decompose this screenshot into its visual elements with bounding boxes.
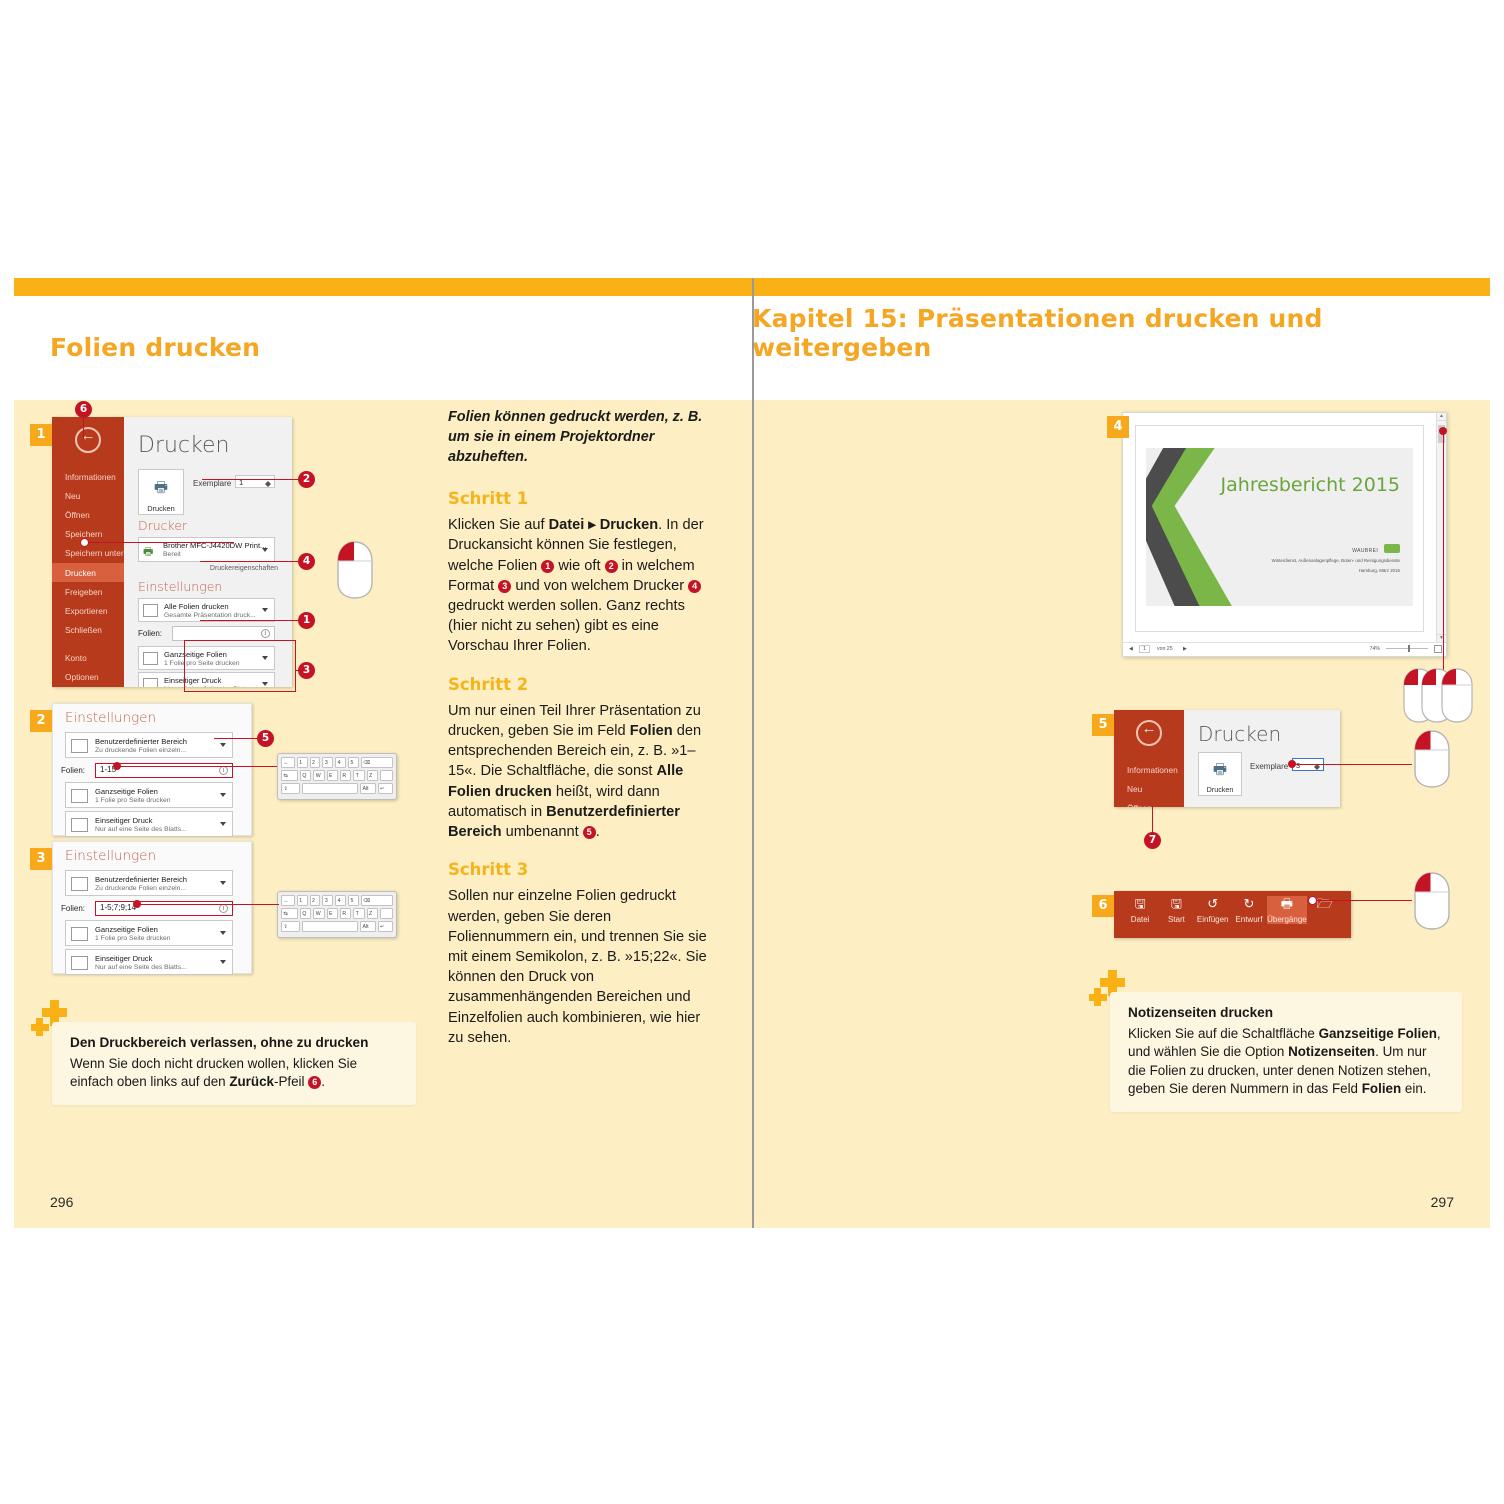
tab-start: Start (1158, 915, 1194, 924)
tip-body: Wenn Sie doch nicht drucken wollen, klic… (70, 1056, 357, 1090)
sided-desc-3: Nur auf eine Seite des Blatts... (95, 964, 187, 971)
keyboard-graphic-2: ←1 23 45 ⌫ ↹Q WE RT Z ⇪ Alt↵ (277, 891, 397, 938)
left-text-column: Folien können gedruckt werden, z. B. um … (448, 407, 710, 1052)
printer-icon: 🖶 (139, 477, 183, 502)
sidebar-item-neu[interactable]: Neu (52, 486, 124, 505)
tab-entwurf: Entwurf (1231, 915, 1267, 924)
print-range-combo[interactable]: Alle Folien drucken Gesamte Präsentation… (138, 598, 275, 622)
backstage-main-2: Drucken 🖶 Drucken Exemplare 3 (1184, 710, 1340, 807)
copies-label-2: Exemplare (1250, 762, 1288, 771)
callout-number-inline: 3 (498, 580, 511, 593)
settings-heading-2: Einstellungen (65, 710, 156, 726)
layout-combo-2[interactable]: Ganzseitige Folien 1 Folie pro Seite dru… (65, 782, 233, 808)
sidebar-item-informationen[interactable]: Informationen (1114, 760, 1184, 779)
preview-scrollbar[interactable]: ▲ ▼ (1436, 413, 1446, 642)
tab-datei: Datei (1122, 915, 1158, 924)
sided-combo-3[interactable]: Einseitiger Druck Nur auf eine Seite des… (65, 949, 233, 975)
redo-icon: ↻ (1231, 896, 1267, 912)
step-badge-3: 3 (30, 848, 52, 870)
folien-row: Folien: i (138, 626, 275, 641)
leader-1 (200, 620, 300, 621)
undo-icon: ↺ (1195, 896, 1231, 912)
left-page-header: Folien drucken (14, 296, 752, 400)
sidebar-item-oeffnen[interactable]: Öffnen (52, 505, 124, 524)
right-page: Kapitel 15: Präsentationen drucken und w… (752, 278, 1490, 1228)
step-badge-5: 5 (1092, 714, 1114, 736)
slide-title: Jahresbericht 2015 (1221, 474, 1400, 496)
keyboard-row: ↹Q WE RT Z (281, 770, 393, 781)
layout-title-3: Ganzseitige Folien (95, 925, 158, 934)
print-button[interactable]: 🖶 Drucken (138, 469, 184, 515)
zoom-slider[interactable] (1386, 648, 1428, 649)
tip-box-left: Den Druckbereich verlassen, ohne zu druc… (52, 1022, 416, 1105)
preview-page-total: von 25 (1157, 646, 1173, 652)
info-icon: i (261, 629, 270, 638)
screenshot-copies-backstage: Informationen Neu Öffnen Speichern Druck… (1114, 710, 1340, 807)
toolbar-item-start[interactable]: 🖫 Start (1158, 896, 1194, 924)
chevron-down-icon (220, 793, 226, 797)
sided-title-3: Einseitiger Druck (95, 954, 152, 963)
emphasis-text: Datei ▸ Drucken (549, 517, 659, 533)
leader-quickprint (1312, 900, 1412, 901)
folien-label-3: Folien: (61, 904, 95, 913)
spread-gutter (752, 278, 754, 1228)
emphasis-text: Benutzerdefinierter Bereich (448, 804, 680, 840)
chapter-title: Kapitel 15: Präsentationen drucken und w… (752, 304, 1454, 362)
scroll-down-arrow-icon[interactable]: ▼ (1437, 634, 1446, 642)
step-text-1: Klicken Sie auf Datei ▸ Drucken. In der … (448, 515, 710, 656)
leader-dot-2 (113, 762, 121, 770)
page-number-left: 296 (50, 1194, 73, 1210)
mouse-cursor-graphic-1 (330, 539, 380, 601)
callout-1: 1 (298, 612, 315, 629)
backstage-heading: Drucken (138, 433, 229, 458)
save-as-icon: 🖫 (1158, 896, 1194, 912)
callout-number-inline: 6 (308, 1076, 321, 1089)
page-number-right: 297 (1431, 1194, 1454, 1210)
screenshot-slide-preview: Jahresbericht 2015 WAUBREI Winterdienst,… (1122, 412, 1447, 657)
callout-3: 3 (298, 662, 315, 679)
preview-page-input[interactable]: 1 (1139, 645, 1150, 653)
layout-icon (143, 652, 158, 665)
sidebar-item-konto[interactable]: Konto (52, 649, 124, 668)
leader-4 (200, 561, 300, 562)
sidebar-item-exportieren[interactable]: Exportieren (52, 601, 124, 620)
print-button-2[interactable]: 🖶 Drucken (1198, 752, 1242, 796)
print-button-label: Drucken (139, 504, 183, 513)
folien-input[interactable]: i (172, 626, 275, 641)
leader-endpoint-dot (80, 538, 89, 547)
chevron-down-icon (220, 743, 226, 747)
tip-title: Den Druckbereich verlassen, ohne zu druc… (70, 1034, 400, 1053)
prev-page-arrow-icon[interactable]: ◀ (1129, 646, 1133, 652)
back-arrow-icon[interactable] (1136, 720, 1162, 746)
chevron-down-icon (220, 931, 226, 935)
step-heading-2: Schritt 2 (448, 675, 710, 695)
sidebar-item-freigeben[interactable]: Freigeben (52, 582, 124, 601)
slide-company: WAUBREI (1352, 548, 1378, 554)
folien-label: Folien: (138, 629, 172, 638)
layout-title-2: Ganzseitige Folien (95, 787, 158, 796)
chevron-down-icon (262, 608, 268, 612)
keyboard-graphic-1: ←1 23 45 ⌫ ↹Q WE RT Z ⇪ Alt↵ (277, 753, 397, 800)
leader-printer (84, 542, 234, 543)
print-range-title: Alle Folien drucken (164, 602, 229, 611)
leader-copies (1292, 764, 1412, 765)
layout-desc-3: 1 Folie pro Seite drucken (95, 935, 171, 942)
print-range-combo-3[interactable]: Benutzerdefinierter Bereich Zu druckende… (65, 870, 233, 896)
chevron-down-icon (220, 822, 226, 826)
slide-place-date: Hamburg, März 2016 (1210, 567, 1400, 574)
callout-4: 4 (298, 553, 315, 570)
right-page-header: Kapitel 15: Präsentationen drucken und w… (752, 296, 1490, 400)
step-badge-6: 6 (1092, 895, 1114, 917)
step-badge-2: 2 (30, 710, 52, 732)
callout-7: 7 (1144, 832, 1161, 849)
printer-icon: 🖶 (1199, 759, 1241, 784)
sidebar-item-drucken[interactable]: Drucken (52, 563, 124, 582)
quick-print-icon: 🖶 (1267, 896, 1307, 912)
folien-value-3: 1-5;7;9;14 (100, 903, 136, 912)
tab-einfuegen: Einfügen (1195, 915, 1231, 924)
preview-zoom-value: 74% (1370, 646, 1380, 652)
print-range-desc-2: Zu druckende Folien einzeln... (95, 747, 186, 754)
leader-dot-3 (133, 900, 141, 908)
leader-dot-quickprint (1308, 896, 1317, 905)
print-range-title-2: Benutzerdefinierter Bereich (95, 737, 187, 746)
range-icon (71, 877, 88, 891)
leader-6 (83, 417, 84, 439)
sidebar-item-schliessen[interactable]: Schließen (52, 621, 124, 640)
mouse-cursor-drag-graphic (1400, 665, 1492, 731)
printer-section-title: Drucker (138, 518, 187, 533)
step-text-2: Um nur einen Teil Ihrer Präsentation zu … (448, 701, 710, 842)
right-page-topbar (752, 278, 1490, 296)
tip-title-right: Notizenseiten drucken (1128, 1004, 1446, 1023)
sidebar-item-informationen[interactable]: Informationen (52, 467, 124, 486)
step-heading-1: Schritt 1 (448, 489, 710, 509)
callout-2: 2 (298, 471, 315, 488)
left-page-body: 1 Informationen Neu Öffnen Speichern Spe… (14, 400, 752, 1228)
left-page: Folien drucken 1 Informationen Neu Öffne… (14, 278, 752, 1228)
emphasis-text: Notizenseiten (1288, 1044, 1375, 1059)
chevron-down-icon (220, 881, 226, 885)
sidebar-item-optionen[interactable]: Optionen (52, 668, 124, 687)
toolbar-item-entwurf[interactable]: ↻ Entwurf (1231, 896, 1267, 924)
toolbar-item-quick-print[interactable]: 🖶 Übergänge (1267, 896, 1307, 924)
copies-input[interactable]: 1 (235, 475, 275, 488)
mouse-cursor-graphic-3 (1407, 870, 1459, 932)
leader-kbd-3 (137, 904, 279, 905)
callout-number-inline: 5 (583, 826, 596, 839)
right-page-body: Schritt 4 Rechts zeigt PowerPoint Ihnen … (752, 400, 1490, 1228)
slide-canvas: Jahresbericht 2015 WAUBREI Winterdienst,… (1146, 448, 1413, 606)
chevron-down-icon (262, 548, 268, 552)
step-badge-4: 4 (1107, 416, 1129, 438)
emphasis-text: Ganzseitige Folien (1319, 1026, 1437, 1041)
slide-logo-icon (1384, 544, 1400, 553)
fit-to-window-icon[interactable] (1434, 645, 1442, 653)
zoom-slider-handle[interactable] (1408, 645, 1410, 652)
keyboard-row: ⇪ Alt↵ (281, 921, 393, 932)
copies-value-2: 3 (1296, 761, 1300, 770)
tip-body-right: Klicken Sie auf die Schaltfläche Ganzsei… (1128, 1026, 1441, 1097)
leader-kbd-2 (117, 766, 277, 767)
save-icon: 🖫 (1122, 896, 1158, 912)
print-range-desc: Gesamte Präsentation druck... (164, 612, 256, 619)
tab-uebergaenge: Übergänge (1267, 915, 1307, 924)
sided-icon (71, 818, 88, 832)
folien-label-2: Folien: (61, 766, 95, 775)
keyboard-row: ⇪ Alt↵ (281, 783, 393, 794)
printer-status-icon: 🖶 (143, 543, 157, 556)
sidebar-item-oeffnen[interactable]: Öffnen (1114, 798, 1184, 807)
sided-combo-2[interactable]: Einseitiger Druck Nur auf eine Seite des… (65, 811, 233, 837)
range-icon (143, 604, 158, 617)
chevron-down-icon (220, 960, 226, 964)
layout-icon (71, 789, 88, 803)
step-badge-1: 1 (30, 424, 52, 446)
preview-slide: Jahresbericht 2015 WAUBREI Winterdienst,… (1135, 425, 1424, 632)
sidebar-item-speichern-unter[interactable]: Speichern unter (52, 544, 124, 563)
keyboard-row: ←1 23 45 ⌫ (281, 895, 393, 906)
emphasis-text: Folien (1362, 1081, 1401, 1096)
scroll-up-arrow-icon[interactable]: ▲ (1437, 413, 1446, 421)
sided-icon (71, 956, 88, 970)
backstage-sidebar: Informationen Neu Öffnen Speichern Speic… (52, 417, 124, 687)
backstage-sidebar-2: Informationen Neu Öffnen Speichern (1114, 710, 1184, 807)
settings-section-title: Einstellungen (138, 579, 222, 594)
printer-status: Bereit (163, 551, 181, 558)
range-icon (71, 739, 88, 753)
left-page-topbar (14, 278, 752, 296)
printer-properties-link[interactable]: Druckereigenschaften (210, 565, 278, 572)
step-text-3: Sollen nur einzelne Folien gedruckt werd… (448, 886, 710, 1048)
keyboard-row: ←1 23 45 ⌫ (281, 757, 393, 768)
back-arrow-icon[interactable] (75, 427, 101, 453)
leader-5 (214, 738, 259, 739)
slide-services: Winterdienst, Außenanlagenpflege, Boten-… (1210, 557, 1400, 564)
print-range-desc-3: Zu druckende Folien einzeln... (95, 885, 186, 892)
toolbar-item-einfuegen[interactable]: ↺ Einfügen (1195, 896, 1231, 924)
sided-desc-2: Nur auf eine Seite des Blatts... (95, 826, 187, 833)
step-heading-3: Schritt 3 (448, 860, 710, 880)
emphasis-text: Zurück (229, 1074, 274, 1089)
backstage-heading-2: Drucken (1198, 722, 1281, 746)
page-title: Folien drucken (50, 333, 260, 362)
sidebar-item-neu[interactable]: Neu (1114, 779, 1184, 798)
leader-dot-copies (1288, 760, 1296, 768)
leader-2 (202, 479, 300, 480)
highlight-rect-layout-group (184, 640, 296, 692)
screenshot-settings-range: Einstellungen Benutzerdefinierter Bereic… (52, 703, 252, 836)
mouse-cursor-graphic-2 (1407, 728, 1459, 790)
sidebar-divider (52, 640, 124, 649)
layout-icon (71, 927, 88, 941)
sided-icon (143, 678, 158, 687)
slide-chevron-graphic (1146, 448, 1413, 606)
callout-number-inline: 4 (688, 580, 701, 593)
leader-scroll (1443, 430, 1444, 690)
printer-combo[interactable]: 🖶 Brother MFC-J4420DW Print... Bereit (138, 537, 275, 562)
print-range-combo-2[interactable]: Benutzerdefinierter Bereich Zu druckende… (65, 732, 233, 758)
callout-6: 6 (75, 401, 92, 418)
emphasis-text: Folien (630, 723, 673, 739)
layout-combo-3[interactable]: Ganzseitige Folien 1 Folie pro Seite dru… (65, 920, 233, 946)
intro-paragraph: Folien können gedruckt werden, z. B. um … (448, 407, 710, 467)
callout-number-inline: 2 (605, 560, 618, 573)
keyboard-row: ↹Q WE RT Z (281, 908, 393, 919)
screenshot-settings-singles: Einstellungen Benutzerdefinierter Bereic… (52, 841, 252, 974)
print-button-label-2: Drucken (1199, 785, 1241, 794)
settings-heading-3: Einstellungen (65, 848, 156, 864)
emphasis-text: Alle Folien drucken (448, 763, 683, 799)
callout-number-inline: 1 (541, 560, 554, 573)
sided-title-2: Einseitiger Druck (95, 816, 152, 825)
tip-box-right: Notizenseiten drucken Klicken Sie auf di… (1110, 992, 1462, 1112)
layout-desc-2: 1 Folie pro Seite drucken (95, 797, 171, 804)
leader-dot-scroll (1439, 427, 1447, 435)
preview-status-bar: ◀ 1 von 25 ▶ 74% (1123, 642, 1446, 656)
next-page-arrow-icon[interactable]: ▶ (1183, 646, 1187, 652)
callout-5: 5 (257, 730, 274, 747)
toolbar-item-datei[interactable]: 🖫 Datei (1122, 896, 1158, 924)
print-range-title-3: Benutzerdefinierter Bereich (95, 875, 187, 884)
